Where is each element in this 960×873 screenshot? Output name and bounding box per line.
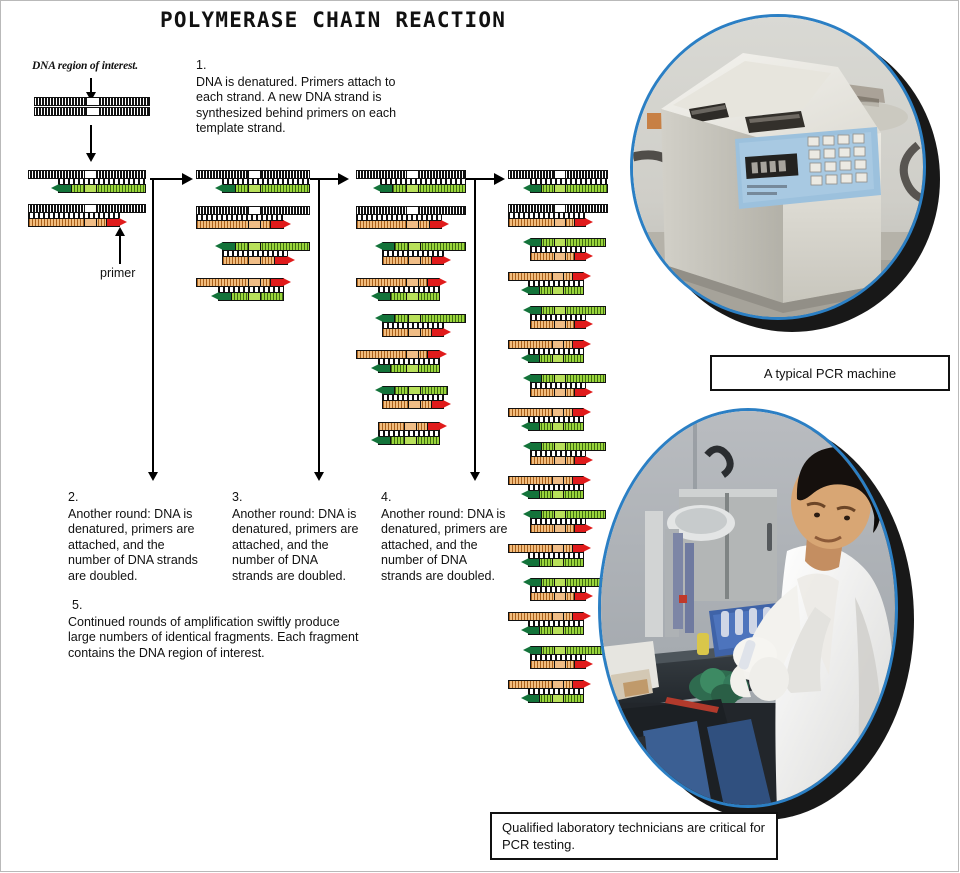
- strand-pair: [356, 350, 456, 374]
- strand-pair: [508, 204, 618, 228]
- strand-pair: [356, 170, 478, 194]
- strand-pair: [196, 278, 296, 302]
- step-5-body: Continued rounds of amplification swiftl…: [68, 615, 358, 660]
- primer-green: [528, 354, 540, 363]
- step-2-number: 2.: [68, 490, 208, 506]
- strand-pair: [530, 374, 620, 398]
- strand-pair: [508, 476, 598, 500]
- primer-red: [274, 256, 288, 265]
- step-1-number: 1.: [196, 58, 406, 74]
- primer-red: [431, 256, 444, 265]
- new-strand-gap: [552, 422, 564, 431]
- primer-green: [218, 292, 232, 301]
- primer-pointer-head: [115, 227, 125, 236]
- pcr-machine-figure: [630, 14, 950, 334]
- strand-pair: [508, 612, 598, 636]
- drop-line-to-step-2: [152, 178, 154, 474]
- new-strand-gap: [554, 592, 566, 601]
- primer-red: [106, 218, 120, 227]
- primer-green: [378, 364, 391, 373]
- dna-region-label: DNA region of interest.: [32, 60, 138, 72]
- new-strand-gap: [552, 490, 564, 499]
- drop-line-to-step-3: [318, 178, 320, 474]
- new-strand-gap: [408, 256, 421, 265]
- step-1-body: DNA is denatured. Primers attach to each…: [196, 75, 396, 136]
- strand-pair: [508, 170, 618, 194]
- new-strand-gap: [554, 320, 566, 329]
- new-strand-gap: [554, 524, 566, 533]
- new-strand-gap: [406, 184, 419, 193]
- primer-red: [574, 218, 586, 227]
- primer-red: [270, 220, 284, 229]
- primer-green: [378, 436, 391, 445]
- drop-arrow-to-step-3: [314, 472, 324, 481]
- step-5-number: 5.: [72, 598, 368, 614]
- new-strand-gap: [406, 364, 419, 373]
- primer-green: [528, 626, 540, 635]
- strand-pair: [196, 170, 318, 194]
- lab-technician-photo-image: [601, 411, 898, 808]
- new-strand-gap: [248, 220, 261, 229]
- new-strand-gap: [554, 660, 566, 669]
- new-strand-gap: [248, 184, 261, 193]
- new-strand-gap: [552, 626, 564, 635]
- flow-arrow-head-3: [494, 173, 505, 185]
- primer-green: [528, 694, 540, 703]
- primer-green: [58, 184, 72, 193]
- flow-arrow-shaft-1: [150, 178, 184, 180]
- primer-green: [378, 292, 391, 301]
- drop-arrow-to-step-2: [148, 472, 158, 481]
- step-2-text-block: 2. Another round: DNA is denatured, prim…: [68, 490, 208, 584]
- step-3-body: Another round: DNA is denatured, primers…: [232, 507, 358, 583]
- primer-red: [574, 524, 586, 533]
- primer-red: [574, 320, 586, 329]
- new-strand-gap: [84, 184, 97, 193]
- primer-pointer-shaft: [119, 236, 121, 264]
- new-strand-gap: [408, 400, 421, 409]
- new-strand-gap: [552, 558, 564, 567]
- step-2-body: Another round: DNA is denatured, primers…: [68, 507, 198, 583]
- strand-pair: [222, 242, 322, 266]
- primer-red: [574, 592, 586, 601]
- primer-red: [574, 456, 586, 465]
- primer-green: [528, 558, 540, 567]
- primer-green: [528, 422, 540, 431]
- step-4-text-block: 4. Another round: DNA is denatured, prim…: [381, 490, 509, 584]
- step-4-body: Another round: DNA is denatured, primers…: [381, 507, 507, 583]
- new-strand-gap: [408, 328, 421, 337]
- strand-pair: [382, 314, 482, 338]
- strand-pair: [382, 386, 482, 410]
- flow-arrow-head-2: [338, 173, 349, 185]
- strand-pair: [508, 272, 598, 296]
- new-strand-gap: [552, 694, 564, 703]
- strand-pair: [196, 206, 318, 230]
- pcr-machine-photo-image: [633, 17, 926, 320]
- new-strand-gap: [552, 286, 564, 295]
- lab-technician-figure: [598, 408, 958, 828]
- step-3-number: 3.: [232, 490, 360, 506]
- primer-red: [574, 660, 586, 669]
- new-strand-gap: [406, 292, 419, 301]
- dna-region-gap-bottom: [86, 107, 100, 116]
- strand-pair: [530, 238, 620, 262]
- new-strand-gap: [554, 218, 566, 227]
- strand-pair: [508, 408, 598, 432]
- strand-pair: [378, 422, 478, 446]
- lab-technician-caption: Qualified laboratory technicians are cri…: [492, 819, 776, 853]
- new-strand-gap: [406, 220, 419, 229]
- strand-pair: [356, 206, 478, 230]
- step-1-text-block: 1. DNA is denatured. Primers attach to e…: [196, 58, 406, 137]
- new-strand-gap: [404, 436, 417, 445]
- strand-pair: [356, 278, 456, 302]
- primer-label: primer: [100, 266, 135, 280]
- primer-green: [528, 490, 540, 499]
- page-title: POLYMERASE CHAIN REACTION: [160, 8, 500, 32]
- strand-pair: [508, 340, 598, 364]
- lab-technician-caption-box: Qualified laboratory technicians are cri…: [490, 812, 778, 860]
- pcr-machine-caption: A typical PCR machine: [754, 365, 906, 382]
- initial-dna-duplex: [34, 97, 150, 119]
- new-strand-gap: [554, 252, 566, 261]
- lab-technician-photo: [598, 408, 898, 808]
- primer-green: [222, 184, 236, 193]
- flow-arrow-head-1: [182, 173, 193, 185]
- strand-pair: [28, 170, 150, 194]
- new-strand-gap: [84, 218, 97, 227]
- pcr-machine-photo: [630, 14, 926, 320]
- new-strand-gap: [248, 256, 261, 265]
- new-strand-gap: [552, 354, 564, 363]
- primer-red: [431, 328, 444, 337]
- new-strand-gap: [554, 456, 566, 465]
- strand-pair: [382, 242, 482, 266]
- primer-red: [574, 252, 586, 261]
- arrow-shaft-to-cycle-1: [90, 125, 92, 155]
- primer-red: [574, 388, 586, 397]
- pcr-machine-caption-box: A typical PCR machine: [710, 355, 950, 391]
- primer-green: [380, 184, 393, 193]
- strand-pair: [508, 680, 598, 704]
- new-strand-gap: [554, 184, 566, 193]
- step-3-text-block: 3. Another round: DNA is denatured, prim…: [232, 490, 360, 584]
- primer-green: [530, 184, 542, 193]
- primer-red: [431, 400, 444, 409]
- strand-pair: [530, 306, 620, 330]
- primer-red: [429, 220, 442, 229]
- primer-green: [528, 286, 540, 295]
- drop-arrow-to-step-4: [470, 472, 480, 481]
- strand-pair: [508, 544, 598, 568]
- new-strand-gap: [248, 292, 261, 301]
- new-strand-gap: [554, 388, 566, 397]
- arrow-head-to-cycle-1: [86, 153, 96, 162]
- step-4-number: 4.: [381, 490, 509, 506]
- strand-pair: [28, 204, 150, 228]
- dna-region-gap-top: [86, 97, 100, 106]
- step-5-text-block: 5. Continued rounds of amplification swi…: [68, 598, 368, 661]
